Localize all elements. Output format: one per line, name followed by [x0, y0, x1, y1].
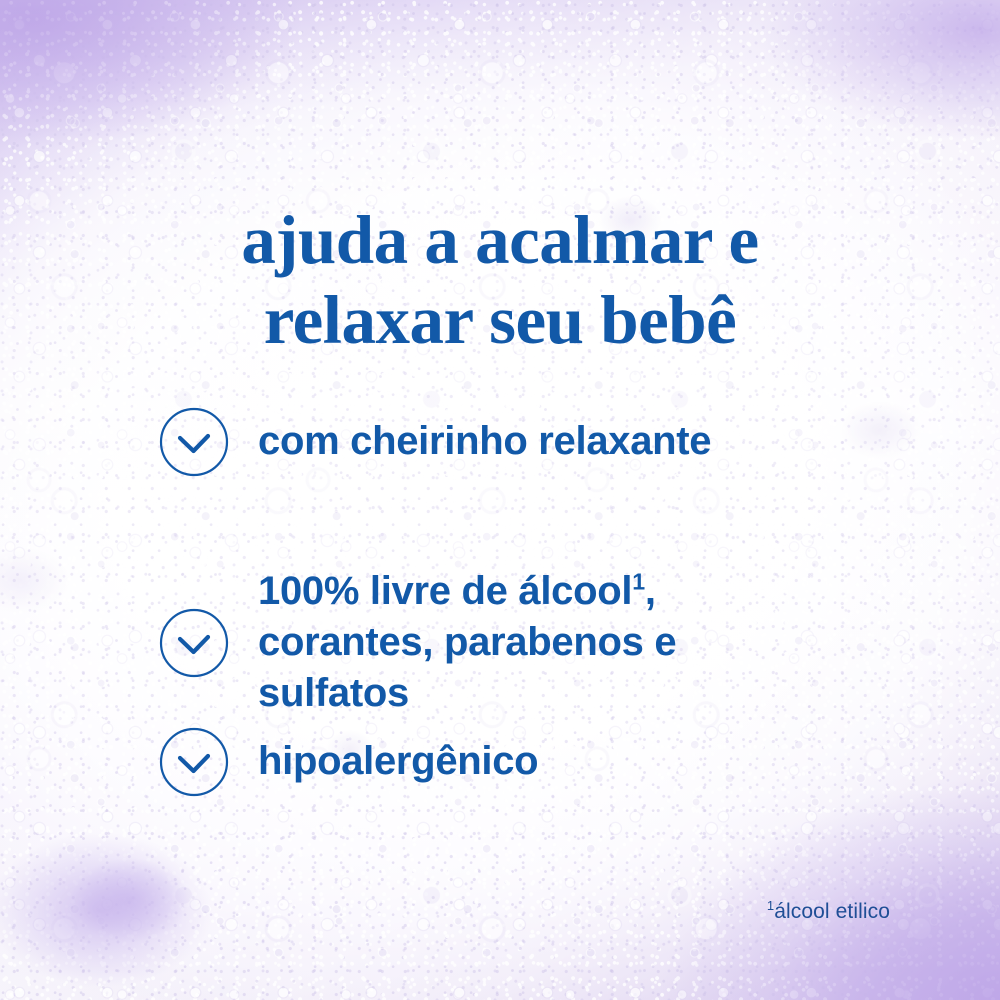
list-item-label: 100% livre de álcool1, corantes, paraben… — [258, 566, 676, 720]
list-item: com cheirinho relaxante — [158, 406, 711, 478]
footnote-text: álcool etilico — [774, 900, 890, 923]
promo-image-canvas: ajuda a acalmar e relaxar seu bebê com c… — [0, 0, 1000, 1000]
list-item-label: hipoalergênico — [258, 736, 538, 787]
list-item: hipoalergênico — [158, 726, 538, 798]
check-circle-icon — [158, 726, 230, 798]
check-circle-icon — [158, 607, 230, 679]
check-circle-icon — [158, 406, 230, 478]
page-title: ajuda a acalmar e relaxar seu bebê — [0, 200, 1000, 360]
content-overlay: ajuda a acalmar e relaxar seu bebê com c… — [0, 0, 1000, 1000]
footnote-marker: 1 — [632, 569, 645, 595]
list-item-label-part-1: 100% livre de álcool — [258, 569, 632, 613]
list-item-label: com cheirinho relaxante — [258, 416, 711, 467]
footnote: 1álcool etilico — [767, 900, 890, 924]
list-item: 100% livre de álcool1, corantes, paraben… — [158, 566, 676, 720]
